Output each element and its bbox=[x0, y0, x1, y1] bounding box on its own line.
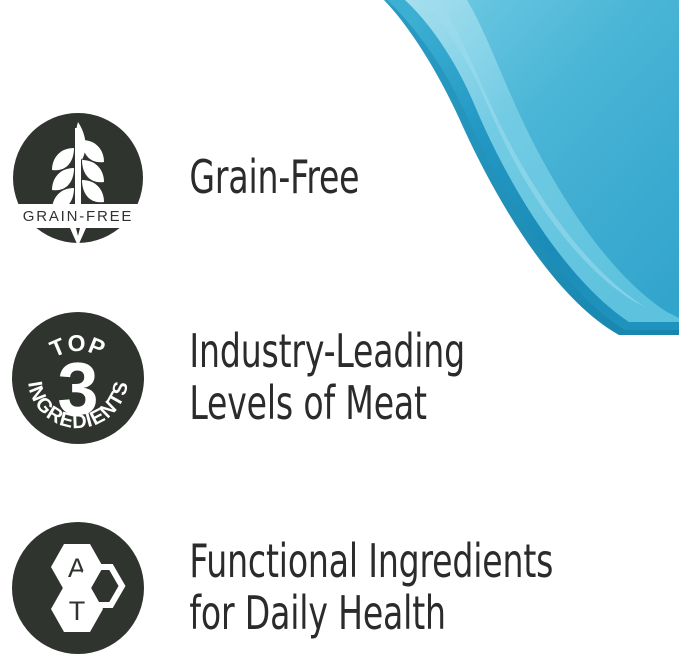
badge-label-grain-free: GRAIN-FREE bbox=[23, 208, 134, 225]
feature-heading: Grain-Free bbox=[155, 152, 574, 204]
product-feature-panel: GRAIN-FREE Grain-Free TOP 3 INGREDIENTS bbox=[0, 0, 679, 663]
badge-slot: TOP 3 INGREDIENTS bbox=[0, 310, 155, 446]
wheat-stalk-icon: GRAIN-FREE bbox=[12, 110, 144, 246]
feature-row: A T Functional Ingredients for Daily Hea… bbox=[0, 520, 679, 656]
badge-slot: GRAIN-FREE bbox=[0, 110, 155, 246]
feature-heading: Industry-Leading Levels of Meat bbox=[155, 326, 574, 429]
hexagon-letter-t: T bbox=[69, 596, 86, 626]
feature-heading: Functional Ingredients for Daily Health bbox=[155, 536, 574, 639]
hexagon-molecule-icon: A T bbox=[12, 520, 144, 656]
badge-slot: A T bbox=[0, 520, 155, 656]
feature-row: GRAIN-FREE Grain-Free bbox=[0, 110, 679, 246]
feature-row: TOP 3 INGREDIENTS Industry-Leading Level… bbox=[0, 310, 679, 446]
top-3-ingredients-icon: TOP 3 INGREDIENTS bbox=[12, 310, 144, 446]
